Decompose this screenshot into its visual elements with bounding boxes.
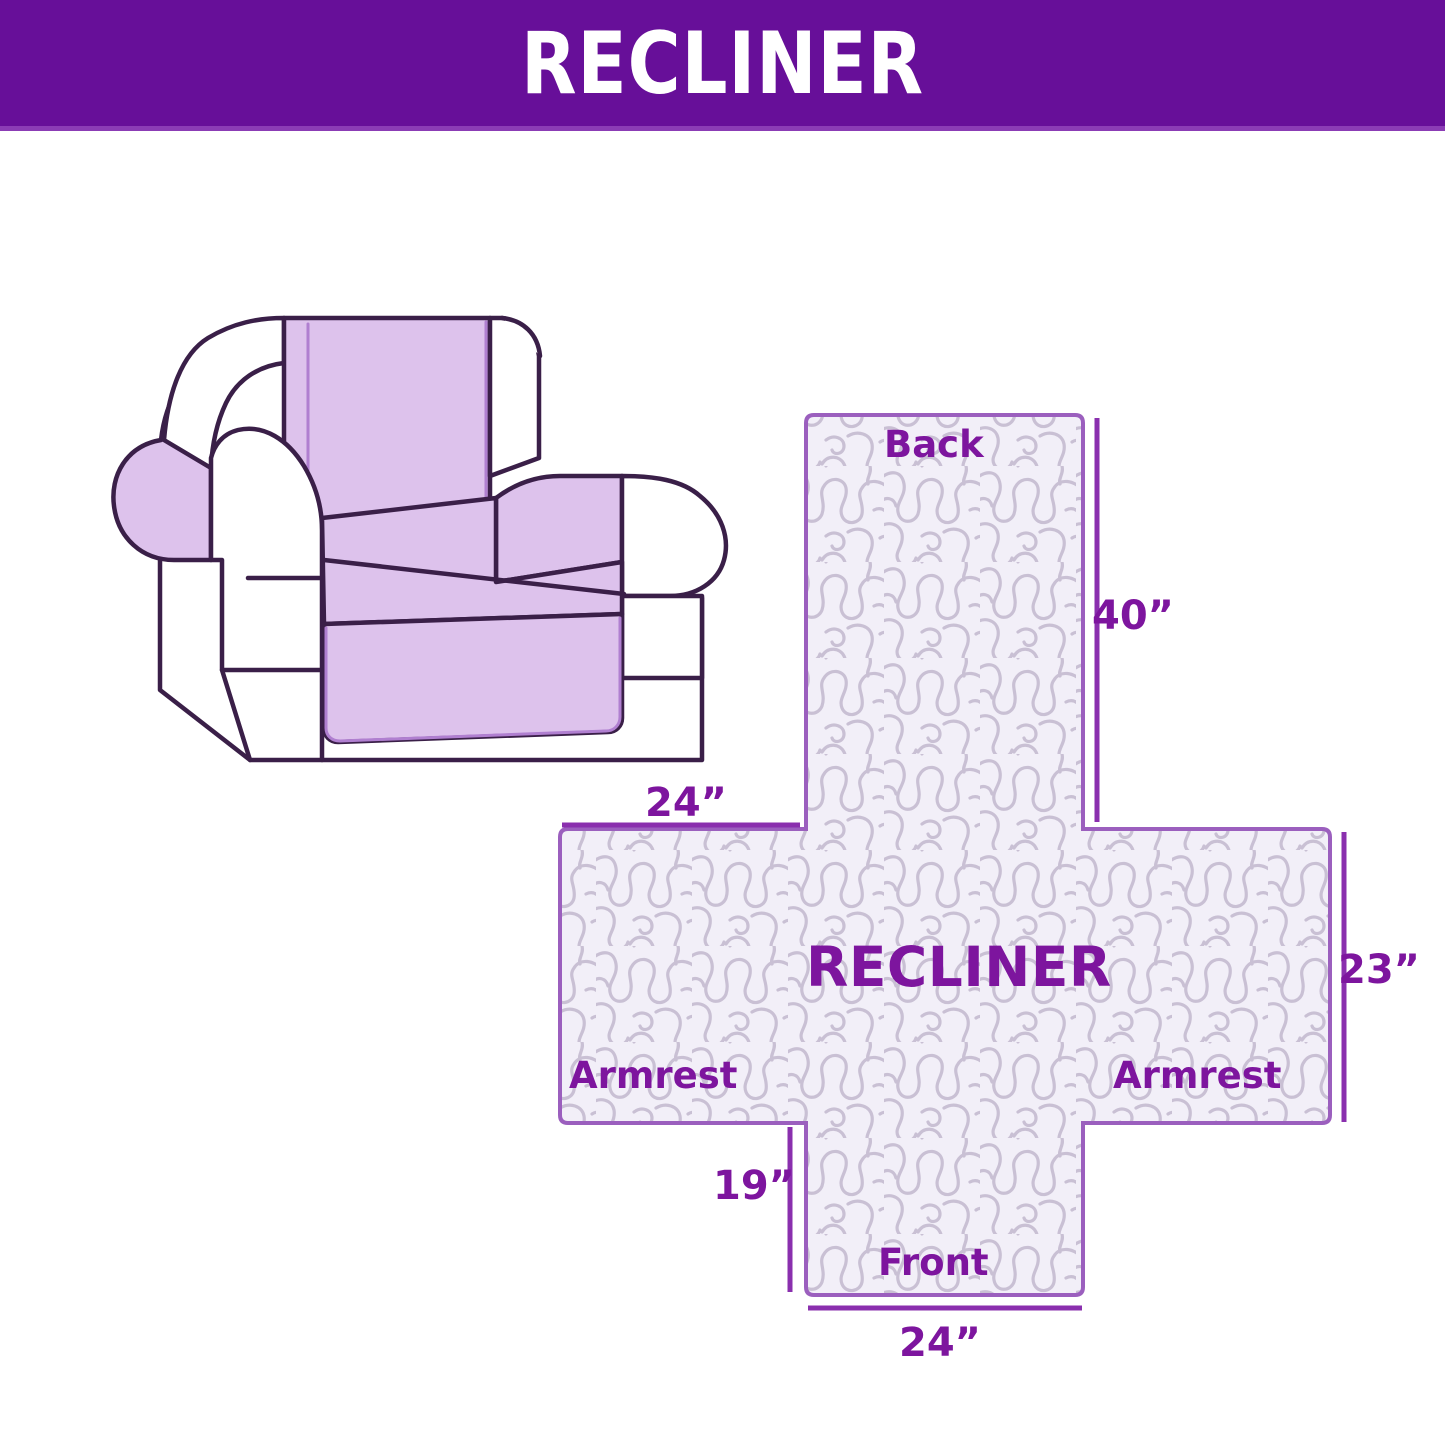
label-back: Back (884, 423, 984, 466)
dimension-label-front-height: 19” (713, 1163, 795, 1209)
product-dimension-diagram: RECLINER (0, 0, 1445, 1445)
cover-cross-shape (560, 415, 1330, 1295)
label-front: Front (878, 1241, 989, 1284)
label-armrest-left: Armrest (569, 1054, 738, 1097)
chair-left-arm-roll (211, 429, 322, 670)
dimension-label-back-height: 40” (1092, 593, 1174, 639)
label-product-name: RECLINER (806, 935, 1112, 999)
page-title: RECLINER (116, 16, 1330, 112)
dimension-label-back-width: 24” (645, 780, 727, 826)
dimension-label-front-width: 24” (899, 1320, 981, 1366)
header-band-bottom-edge (0, 126, 1445, 131)
label-armrest-right: Armrest (1113, 1054, 1282, 1097)
dimension-label-armrest-depth: 23” (1338, 947, 1420, 993)
